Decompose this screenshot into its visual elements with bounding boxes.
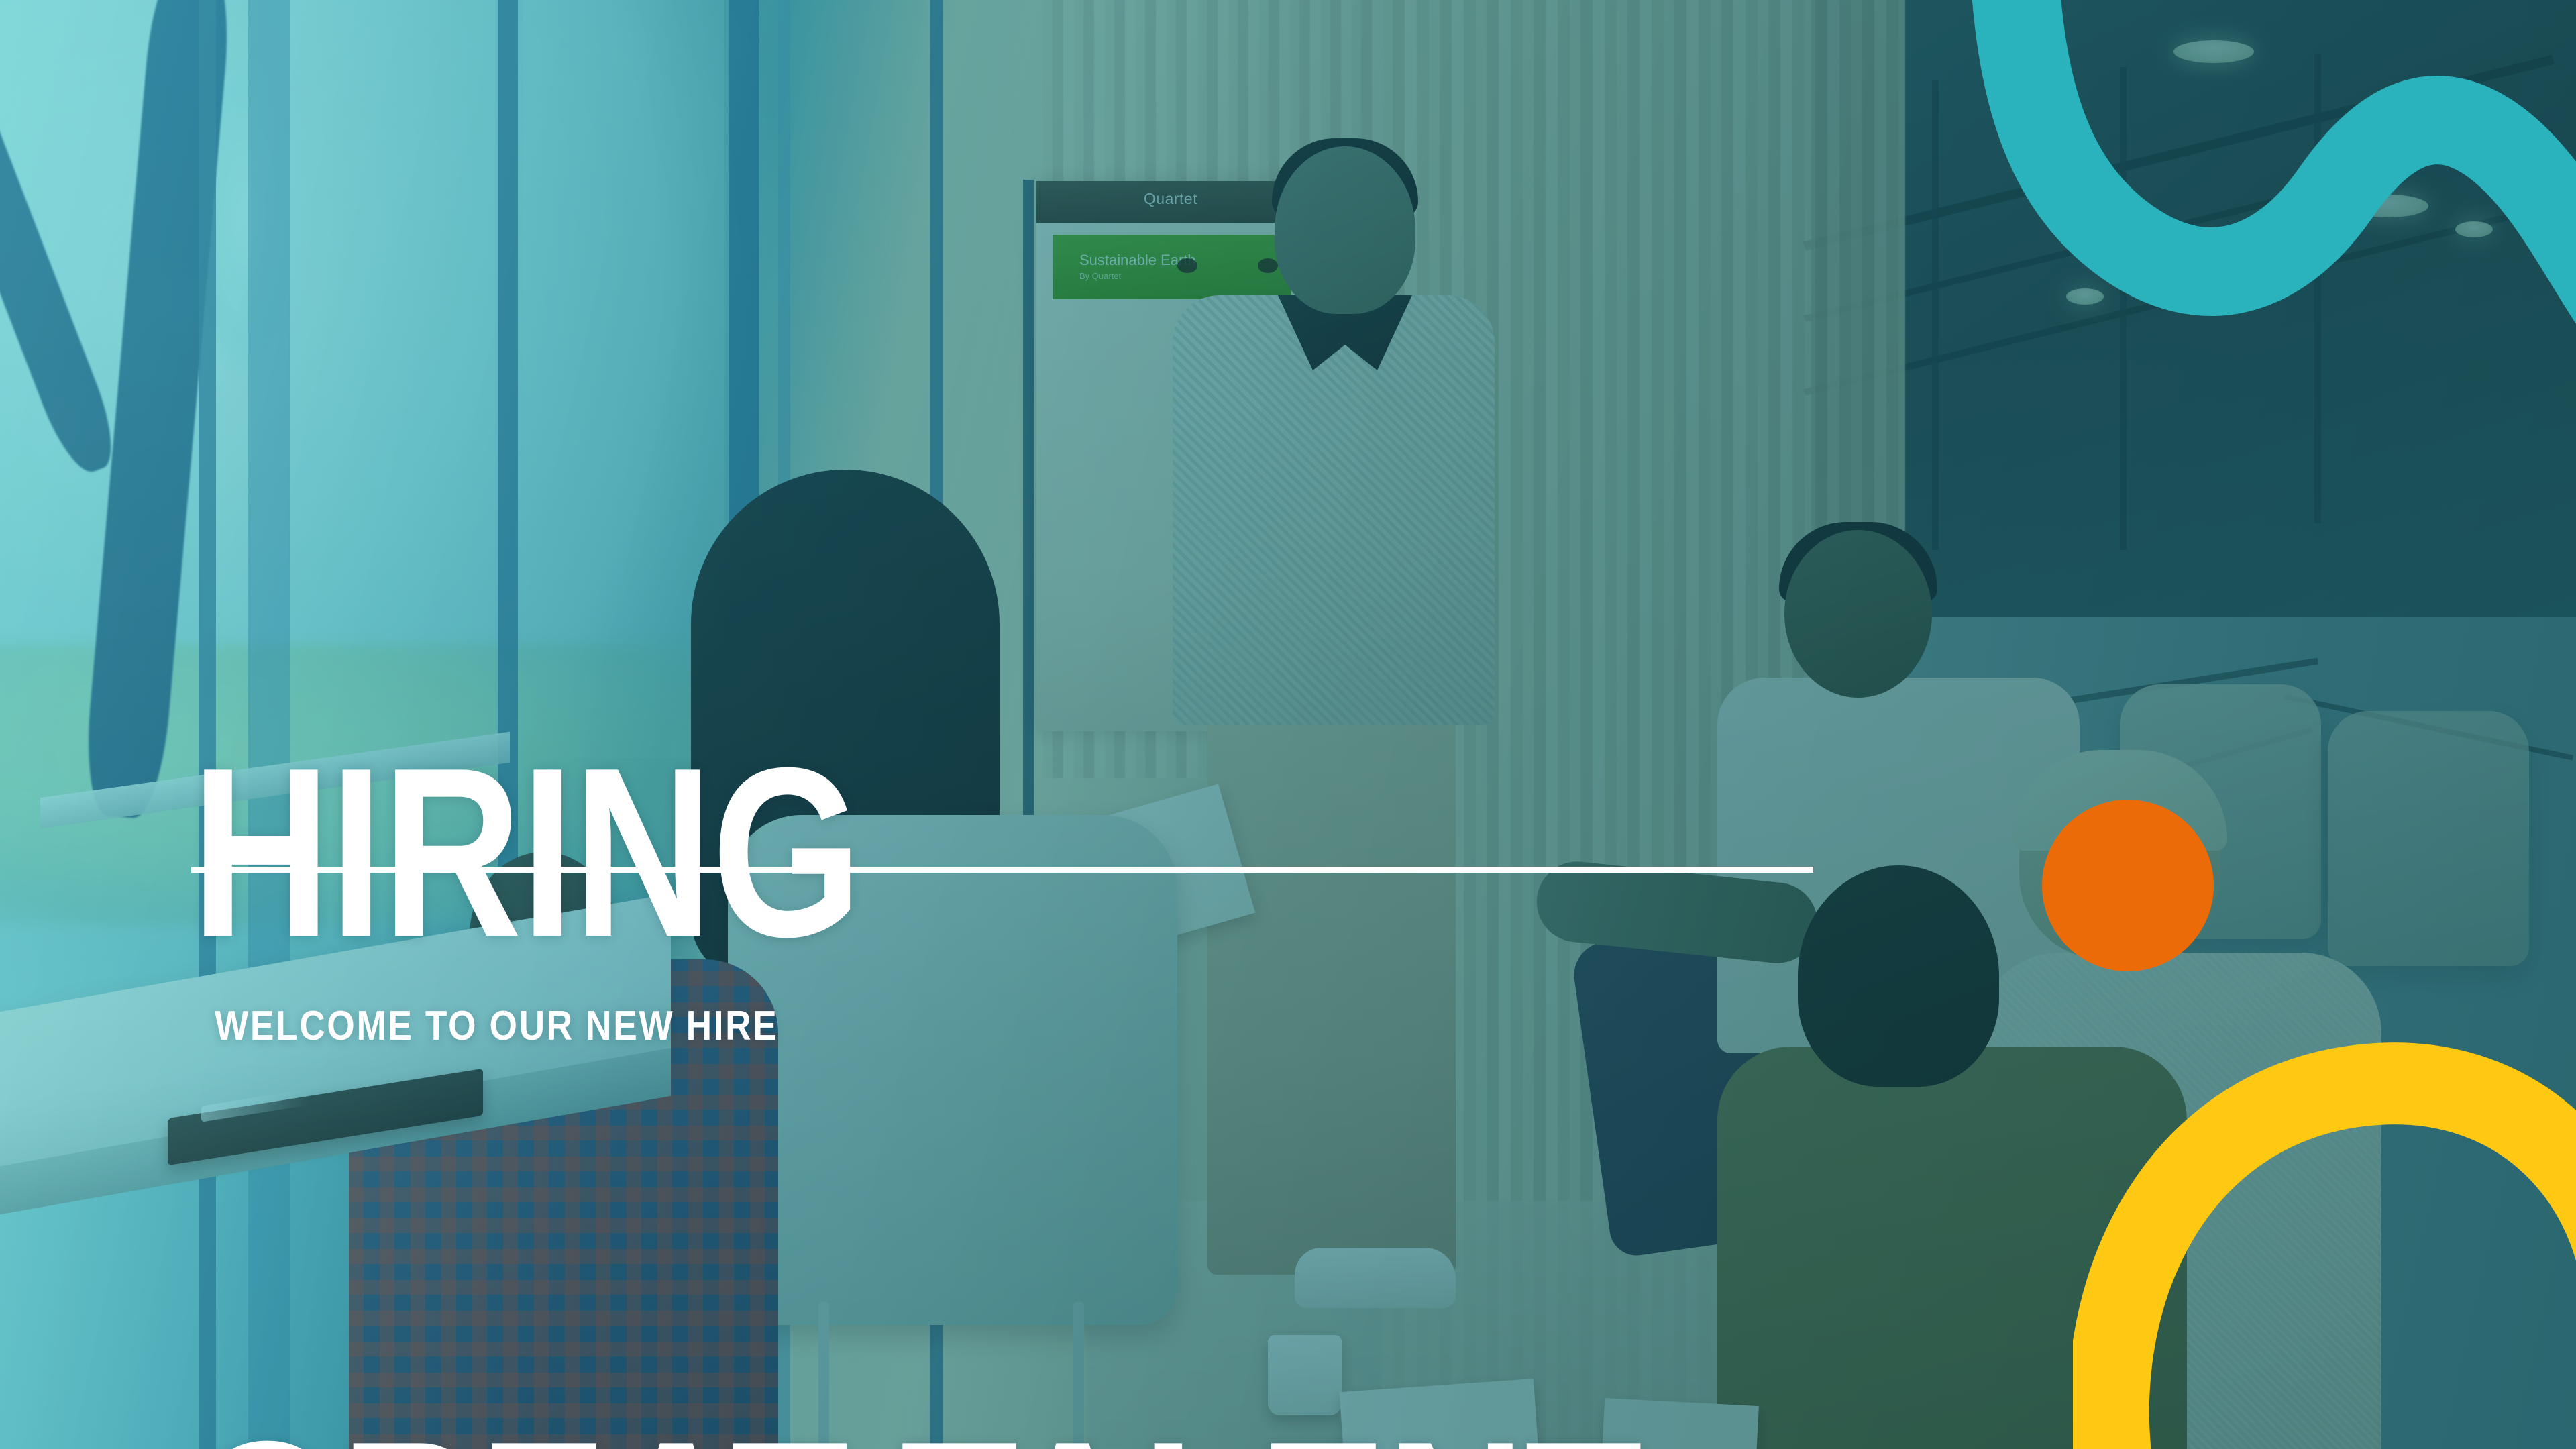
subtitle: WELCOME TO OUR NEW HIRE: [215, 1002, 778, 1050]
headline-divider-rule: [191, 867, 1813, 873]
headline-line-2: GREAT TALENT: [191, 1414, 1642, 1449]
headline-line-1: HIRING: [191, 741, 1642, 965]
banner-canvas: Quartet Sustainable Earth By Quartet: [0, 0, 2576, 1449]
